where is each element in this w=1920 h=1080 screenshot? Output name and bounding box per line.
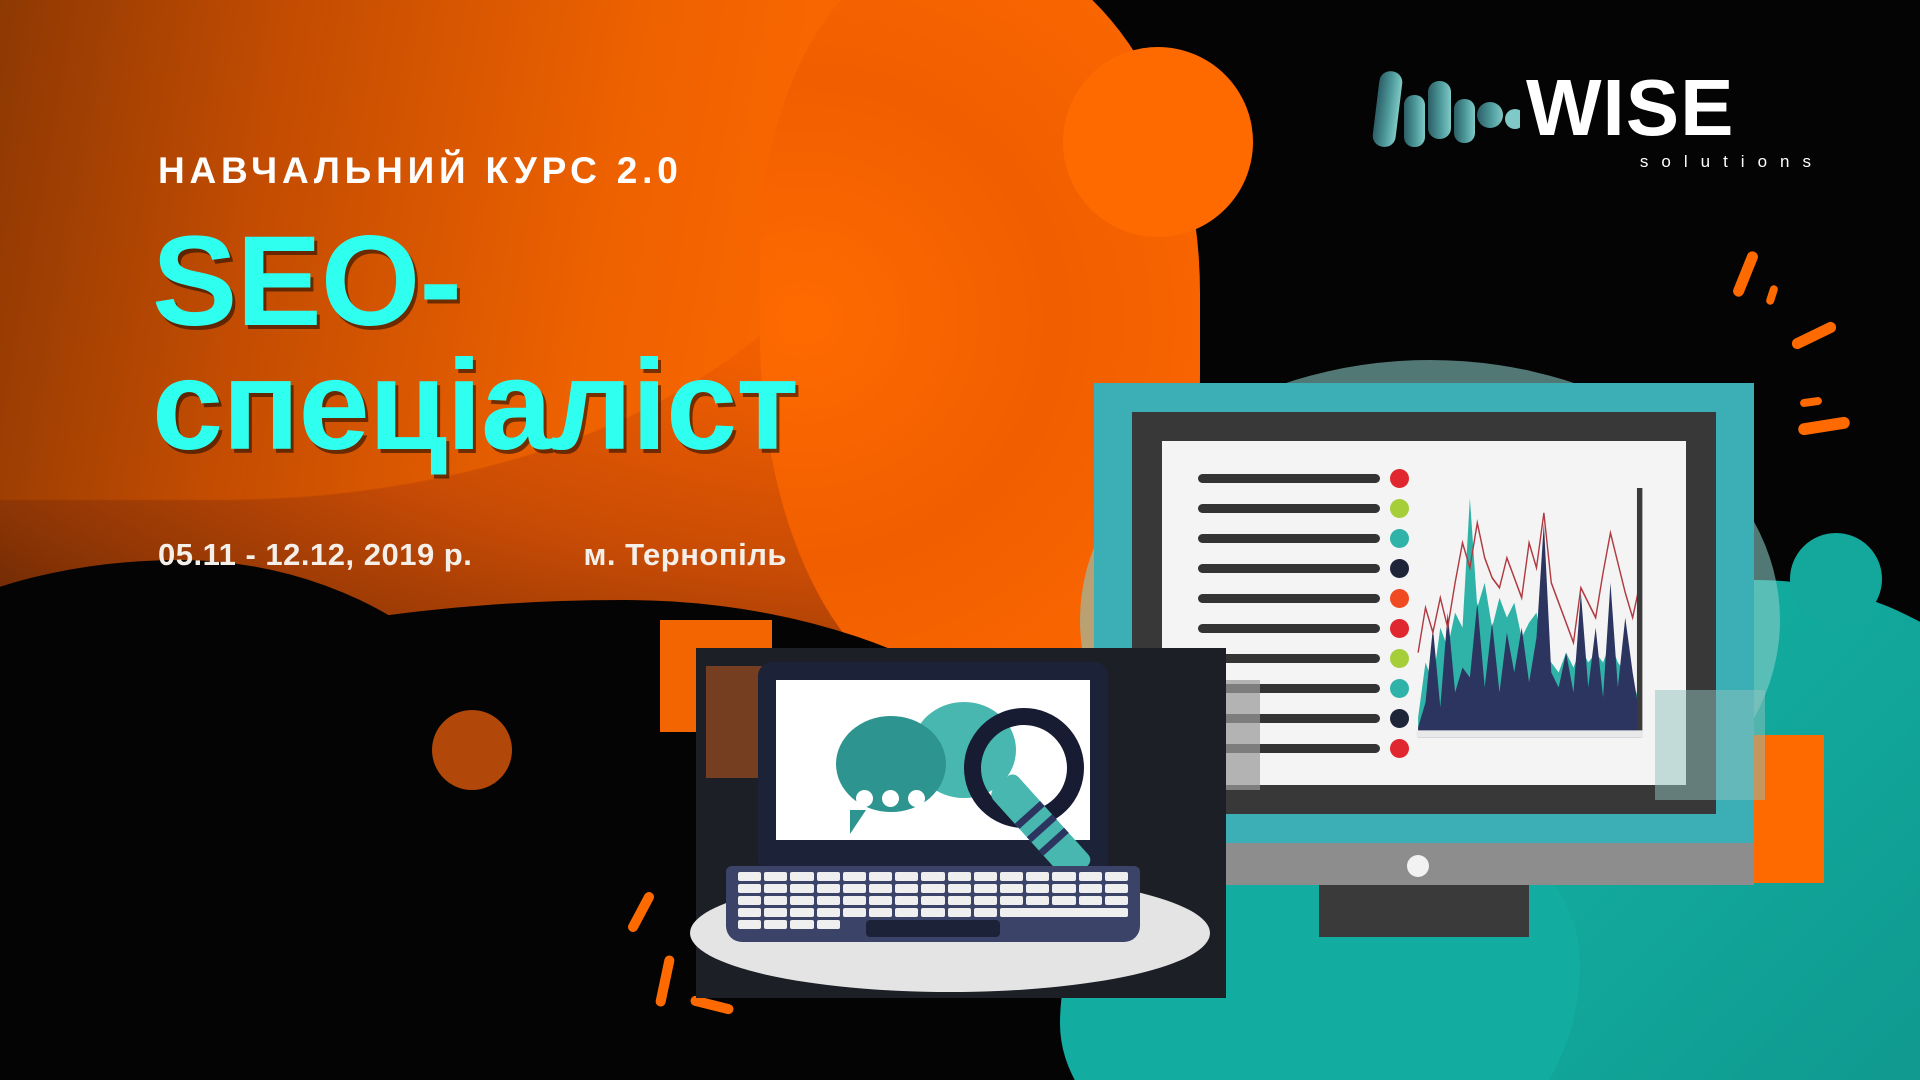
laptop-trackpad [866,920,1000,937]
monitor-list-row [1198,589,1409,608]
laptop-key [738,908,761,917]
laptop-key [1000,908,1128,917]
teal-circle-right [1790,533,1882,625]
laptop-key [1026,872,1049,881]
laptop-key [1079,896,1102,905]
event-meta: 05.11 - 12.12, 2019 р. м. Тернопіль [158,537,787,573]
laptop-key [895,884,918,893]
monitor-stand [1319,885,1529,937]
laptop-key [1105,896,1128,905]
laptop-key [738,896,761,905]
laptop-key [948,908,971,917]
monitor-list-dot [1390,589,1409,608]
course-kicker: НАВЧАЛЬНИЙ КУРС 2.0 [158,150,683,192]
bubble-dot-3 [908,790,925,807]
laptop-key [1052,896,1075,905]
laptop-key [1000,896,1023,905]
laptop-key [1052,872,1075,881]
laptop-key [921,896,944,905]
laptop-key [738,920,761,929]
laptop-key [817,872,840,881]
laptop-key [790,908,813,917]
monitor-list-dot [1390,739,1409,758]
wise-logo: WISE solutions [1370,62,1830,192]
laptop-key [764,884,787,893]
laptop-key [895,872,918,881]
laptop-key [843,896,866,905]
laptop-key [1105,872,1128,881]
bubble-dot-2 [882,790,899,807]
laptop-key [817,896,840,905]
laptop-key [817,920,840,929]
laptop-key [1026,884,1049,893]
laptop-key [738,884,761,893]
speech-bubble-front-icon [836,716,946,812]
teal-square-overlay [1655,690,1765,800]
monitor-list-dot [1390,679,1409,698]
promo-banner: НАВЧАЛЬНИЙ КУРС 2.0 SEO- спеціаліст 05.1… [0,0,1920,1080]
laptop-key [921,884,944,893]
laptop-key [895,908,918,917]
monitor-list-dot [1390,709,1409,728]
laptop-key [921,872,944,881]
monitor-list-row [1198,649,1409,668]
laptop-key [790,872,813,881]
laptop-key [921,908,944,917]
laptop-key [1052,884,1075,893]
chart-series-group [1418,498,1640,737]
monitor-list-dot [1390,469,1409,488]
laptop-key [764,908,787,917]
monitor-list-row [1198,619,1409,638]
monitor-list-bar [1198,564,1380,573]
brown-circle-left [432,710,512,790]
laptop-key [764,920,787,929]
wise-tagline: solutions [1370,152,1830,172]
monitor-list-dot [1390,619,1409,638]
laptop-key [843,884,866,893]
laptop-key [764,872,787,881]
wise-wordmark: WISE [1526,72,1734,144]
laptop-key [738,872,761,881]
laptop-key [1079,872,1102,881]
laptop-key [790,920,813,929]
laptop-key [843,872,866,881]
monitor-list-bar [1198,594,1380,603]
laptop-key [948,872,971,881]
laptop-key [1000,884,1023,893]
monitor-list-bar [1198,624,1380,633]
laptop-key [974,896,997,905]
bubble-dot-1 [856,790,873,807]
chart-axis-bottom [1417,730,1644,737]
laptop-key [974,884,997,893]
page-title: SEO- спеціаліст [152,220,798,468]
laptop-key [948,896,971,905]
laptop-key [843,908,866,917]
laptop-key [895,896,918,905]
chart-axis-right [1637,488,1642,737]
monitor-list-dot [1390,499,1409,518]
laptop-key [1026,896,1049,905]
laptop-key [1079,884,1102,893]
monitor-list-row [1198,559,1409,578]
laptop-keyboard [738,872,1128,916]
event-city: м. Тернопіль [583,537,786,572]
laptop-key [1000,872,1023,881]
wise-squiggle-mark-icon [1370,65,1520,151]
laptop-key [869,908,892,917]
monitor-list-bar [1198,504,1380,513]
monitor-list-dot [1390,649,1409,668]
laptop-key [974,908,997,917]
monitor-list-dot [1390,529,1409,548]
laptop-key [790,896,813,905]
laptop-illustration [700,662,1210,992]
area-chart-svg [1415,481,1648,749]
laptop-key [790,884,813,893]
laptop-base [726,866,1140,942]
laptop-key [1105,884,1128,893]
laptop-key [817,908,840,917]
page-title-line-1: SEO- [152,210,461,353]
monitor-chart [1409,467,1664,759]
laptop-key [869,884,892,893]
laptop-key [974,872,997,881]
laptop-key [869,872,892,881]
monitor-list-row [1198,529,1409,548]
monitor-list-row [1198,499,1409,518]
monitor-list-row [1198,469,1409,488]
laptop-key [817,884,840,893]
event-date: 05.11 - 12.12, 2019 р. [158,537,472,572]
monitor-list-bar [1198,534,1380,543]
laptop-key [948,884,971,893]
laptop-key [764,896,787,905]
monitor-list-bar [1198,474,1380,483]
orange-circle-top [1063,47,1253,237]
laptop-key [869,896,892,905]
monitor-power-dot-icon [1407,855,1429,877]
page-title-line-2: спеціаліст [152,344,798,468]
monitor-list-dot [1390,559,1409,578]
